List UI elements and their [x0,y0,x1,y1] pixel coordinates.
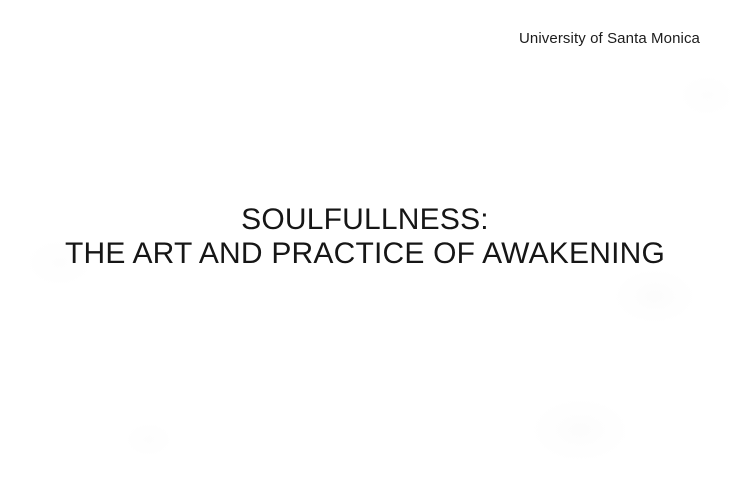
institution-name: University of Santa Monica [519,30,700,48]
slide-header: University of Santa Monica [0,30,700,48]
title-line-primary: SOULFULLNESS: [0,203,730,237]
title-line-secondary: THE ART AND PRACTICE OF AWAKENING [0,237,730,271]
presentation-slide: University of Santa Monica SOULFULLNESS:… [0,0,744,478]
slide-title: SOULFULLNESS: THE ART AND PRACTICE OF AW… [0,203,730,271]
